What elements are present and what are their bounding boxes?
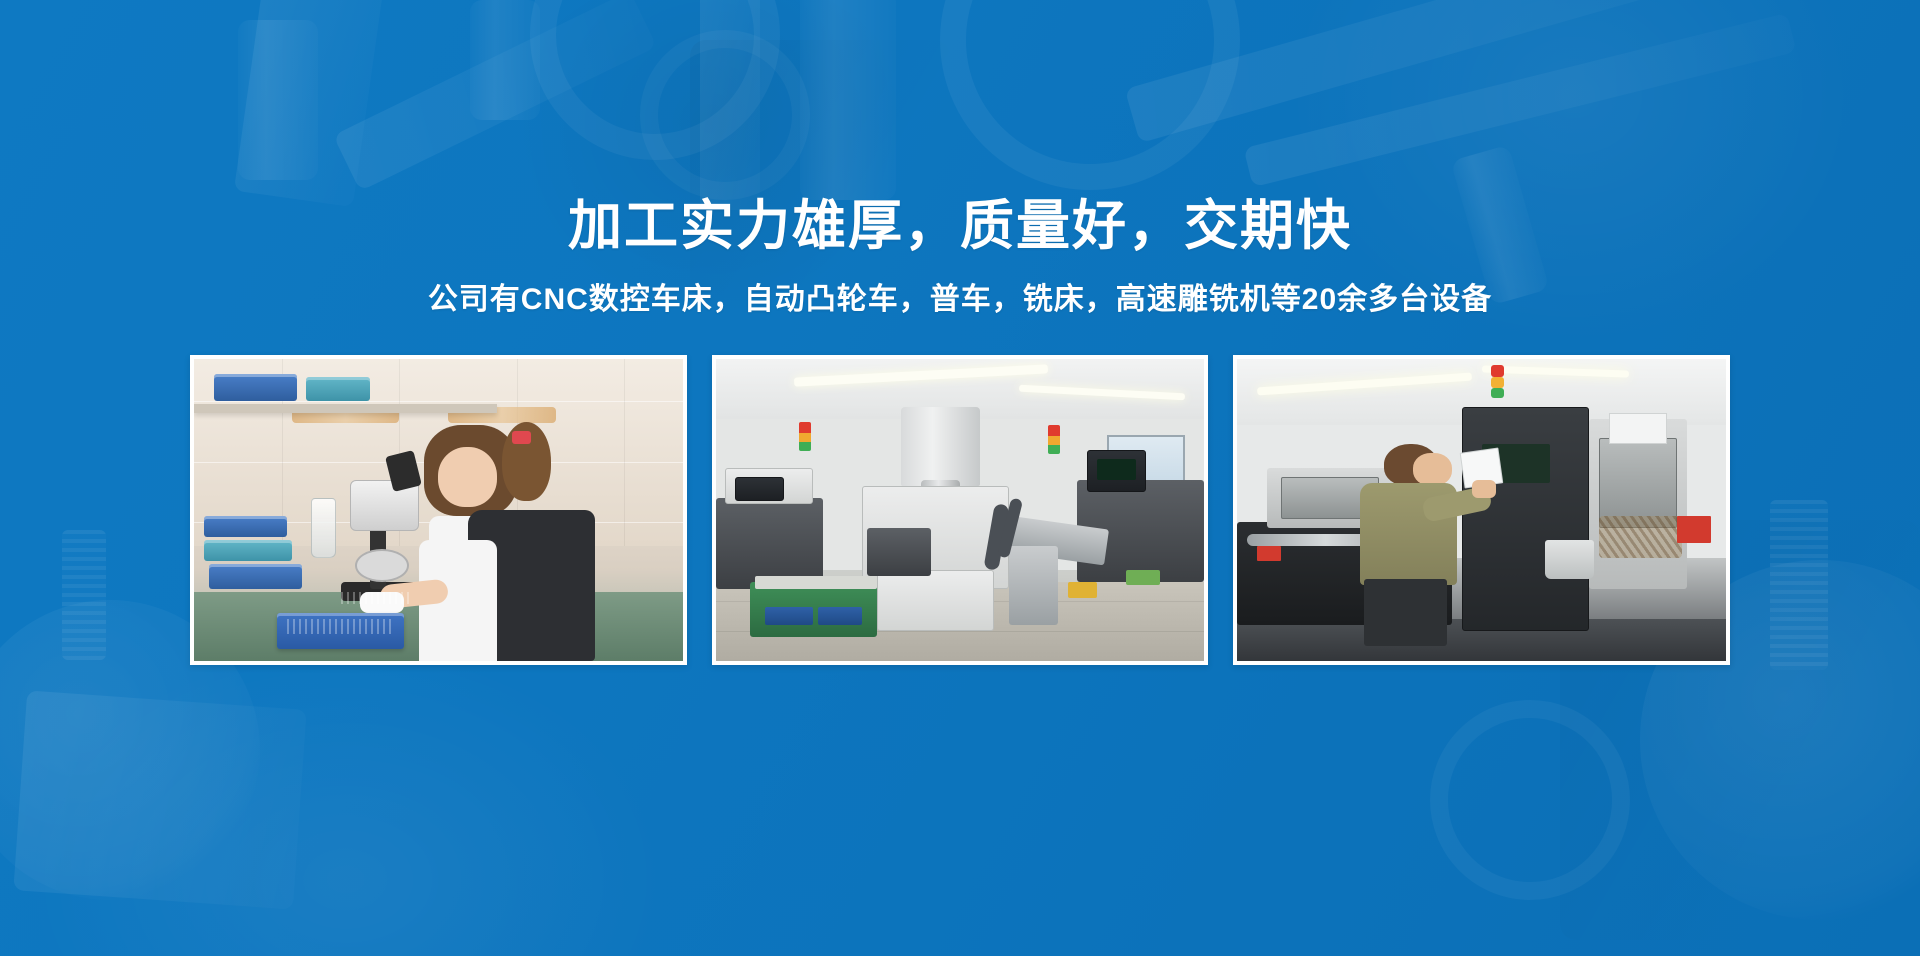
- scene-microscope-inspection: [194, 359, 683, 661]
- tile-line: [624, 359, 625, 546]
- signal-lamp-amber: [799, 433, 812, 442]
- cnc-screen: [1097, 459, 1136, 480]
- watermark-flange-icon: [940, 0, 1240, 190]
- storage-basket: [209, 564, 302, 588]
- auxiliary-machine: [716, 498, 824, 589]
- operator-face: [1413, 453, 1452, 486]
- shelf: [194, 404, 497, 413]
- signal-lamp-amber: [1048, 436, 1060, 445]
- watermark-sleeve-icon: [470, 0, 540, 120]
- lathe-enclosure: [1462, 407, 1589, 630]
- promo-banner: 加工实力雄厚，质量好，交期快 公司有CNC数控车床，自动凸轮车，普车，铣床，高速…: [0, 0, 1920, 956]
- bottle: [311, 498, 335, 558]
- parts-bin: [818, 607, 862, 625]
- signal-lamp-green: [1048, 445, 1060, 454]
- gallery-photo-3[interactable]: [1233, 355, 1730, 665]
- watermark-washer-icon: [1430, 700, 1630, 900]
- page-subtitle: 公司有CNC数控车床，自动凸轮车，普车，铣床，高速雕铣机等20余多台设备: [0, 282, 1920, 318]
- warning-label: [1677, 516, 1711, 543]
- storage-basket: [306, 377, 370, 401]
- scene-cnc-milling-workshop: [716, 359, 1205, 661]
- machine-door: [1599, 438, 1677, 529]
- operator-face: [438, 447, 497, 507]
- scene-cnc-lathe-operator: [1237, 359, 1726, 661]
- watermark-thread-icon: [62, 530, 106, 660]
- page-title: 加工实力雄厚，质量好，交期快: [0, 196, 1920, 256]
- signal-lamp-red: [799, 422, 812, 433]
- operator-hand: [1472, 480, 1496, 498]
- photo-gallery: [190, 355, 1730, 665]
- signal-lamp-green: [1491, 388, 1504, 399]
- storage-basket: [204, 540, 292, 561]
- watermark-rod2-icon: [1243, 13, 1796, 187]
- signal-lamp-green: [799, 442, 812, 451]
- signal-lamp-red: [1491, 365, 1504, 377]
- parts-bin: [1126, 570, 1160, 585]
- machine-notice: [1609, 413, 1668, 443]
- watermark-plate-icon: [13, 690, 306, 909]
- watermark-thread2-icon: [1770, 500, 1828, 670]
- control-panel: [735, 477, 784, 501]
- conveyor-leg: [1009, 546, 1058, 625]
- signal-lamp-amber: [1491, 377, 1504, 388]
- watermark-barrel-icon: [800, 0, 896, 200]
- operator-trousers: [1364, 579, 1447, 645]
- parts-bin: [765, 607, 814, 625]
- parts-bin: [1068, 582, 1097, 597]
- watermark-tube-icon: [700, 0, 760, 210]
- watermark-bar-icon: [234, 0, 386, 207]
- tool-cart-top: [755, 576, 877, 588]
- milling-head: [901, 407, 979, 486]
- microscope-lens: [355, 549, 409, 582]
- parts-pile: [341, 592, 409, 604]
- gallery-photo-1[interactable]: [190, 355, 687, 665]
- signal-lamp-red: [1048, 425, 1060, 435]
- storage-basket: [204, 516, 287, 537]
- watermark-ring-icon: [530, 0, 780, 160]
- machine-window: [867, 528, 931, 576]
- storage-basket: [214, 374, 297, 401]
- machine-base: [877, 570, 994, 630]
- banner-copy: 加工实力雄厚，质量好，交期快 公司有CNC数控车床，自动凸轮车，普车，铣床，高速…: [0, 196, 1920, 318]
- watermark-rod-icon: [1125, 0, 1756, 143]
- hair-tie: [512, 431, 532, 443]
- warning-label: [1257, 546, 1281, 561]
- coolant-bucket: [1545, 540, 1594, 579]
- tile-line: [194, 401, 683, 402]
- gallery-photo-2[interactable]: [712, 355, 1209, 665]
- watermark-shaft-icon: [333, 0, 657, 191]
- parts-in-tray: [287, 619, 395, 634]
- metal-chips: [1599, 516, 1682, 558]
- watermark-cylinder-icon: [238, 20, 318, 180]
- watermark-ring-small-icon: [640, 30, 810, 200]
